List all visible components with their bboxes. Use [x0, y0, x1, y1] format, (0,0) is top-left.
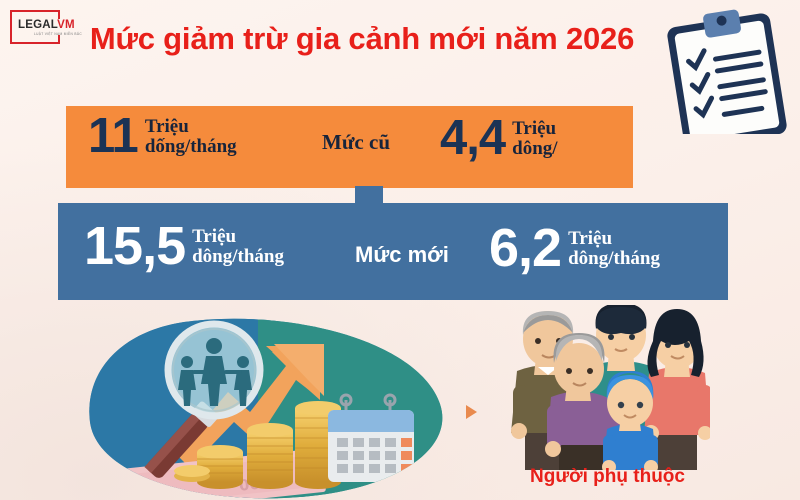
new-rate-self-unit: Triệu dông/tháng [192, 227, 284, 267]
old-rate-dependent-unit: Triệu dông/ [512, 119, 557, 159]
page-title: Mức giảm trừ gia cảnh mới năm 2026 [72, 22, 652, 55]
old-rate-self-unit-line2: dống/tháng [145, 137, 237, 157]
new-rate-dependent-amount: 6,2 [489, 224, 561, 274]
right-triangle-arrow-icon [466, 405, 477, 419]
logo-primary-text: LEGAL [18, 19, 57, 31]
footer-caption: Người phụ thuộc [505, 466, 710, 488]
new-rate-dependent-unit-line1: Triệu [568, 229, 660, 249]
old-rate-dependent-unit-line1: Triệu [512, 119, 557, 139]
old-rate-label-text: Mức cũ [322, 130, 390, 155]
new-rate-self-amount: 15,5 [84, 222, 185, 272]
logo-wordmark: LEGALVM [18, 19, 75, 31]
money-magnifier-illustration: 100 00 [88, 318, 450, 500]
old-rate-dependent-amount: 4,4 [440, 116, 505, 161]
old-rate-self-unit: Triệu dống/tháng [145, 117, 237, 157]
old-rate-self-unit-line1: Triệu [145, 117, 237, 137]
new-rate-dependent-unit-line2: dông/tháng [568, 249, 660, 269]
clipboard-checklist-icon [645, 2, 800, 134]
svg-text:100: 100 [116, 481, 154, 500]
new-rate-self-unit-line2: dông/tháng [192, 247, 284, 267]
old-rate-label: Mức cũ [322, 130, 390, 155]
new-rate-label: Mức mới [355, 242, 449, 268]
infographic-canvas: LEGALVM LUẬT VIỆT NAM MIỀN BẮC Mức giảm … [0, 0, 800, 500]
old-rate-dependent-unit-line2: dông/ [512, 139, 557, 159]
brand-logo: LEGALVM LUẬT VIỆT NAM MIỀN BẮC [10, 10, 76, 46]
old-rate-dependent-group: 4,4 Triệu dông/ [440, 116, 558, 161]
new-rate-self-unit-line1: Triệu [192, 227, 284, 247]
new-rate-self-group: 15,5 Triệu dông/tháng [84, 222, 284, 272]
new-rate-label-text: Mức mới [355, 242, 449, 268]
family-group-illustration [505, 305, 710, 470]
new-rate-dependent-group: 6,2 Triệu dông/tháng [489, 224, 660, 274]
old-rate-self-group: 11 Triệu dống/tháng [88, 114, 237, 159]
old-rate-self-amount: 11 [88, 114, 138, 159]
new-rate-dependent-unit: Triệu dông/tháng [568, 229, 660, 269]
